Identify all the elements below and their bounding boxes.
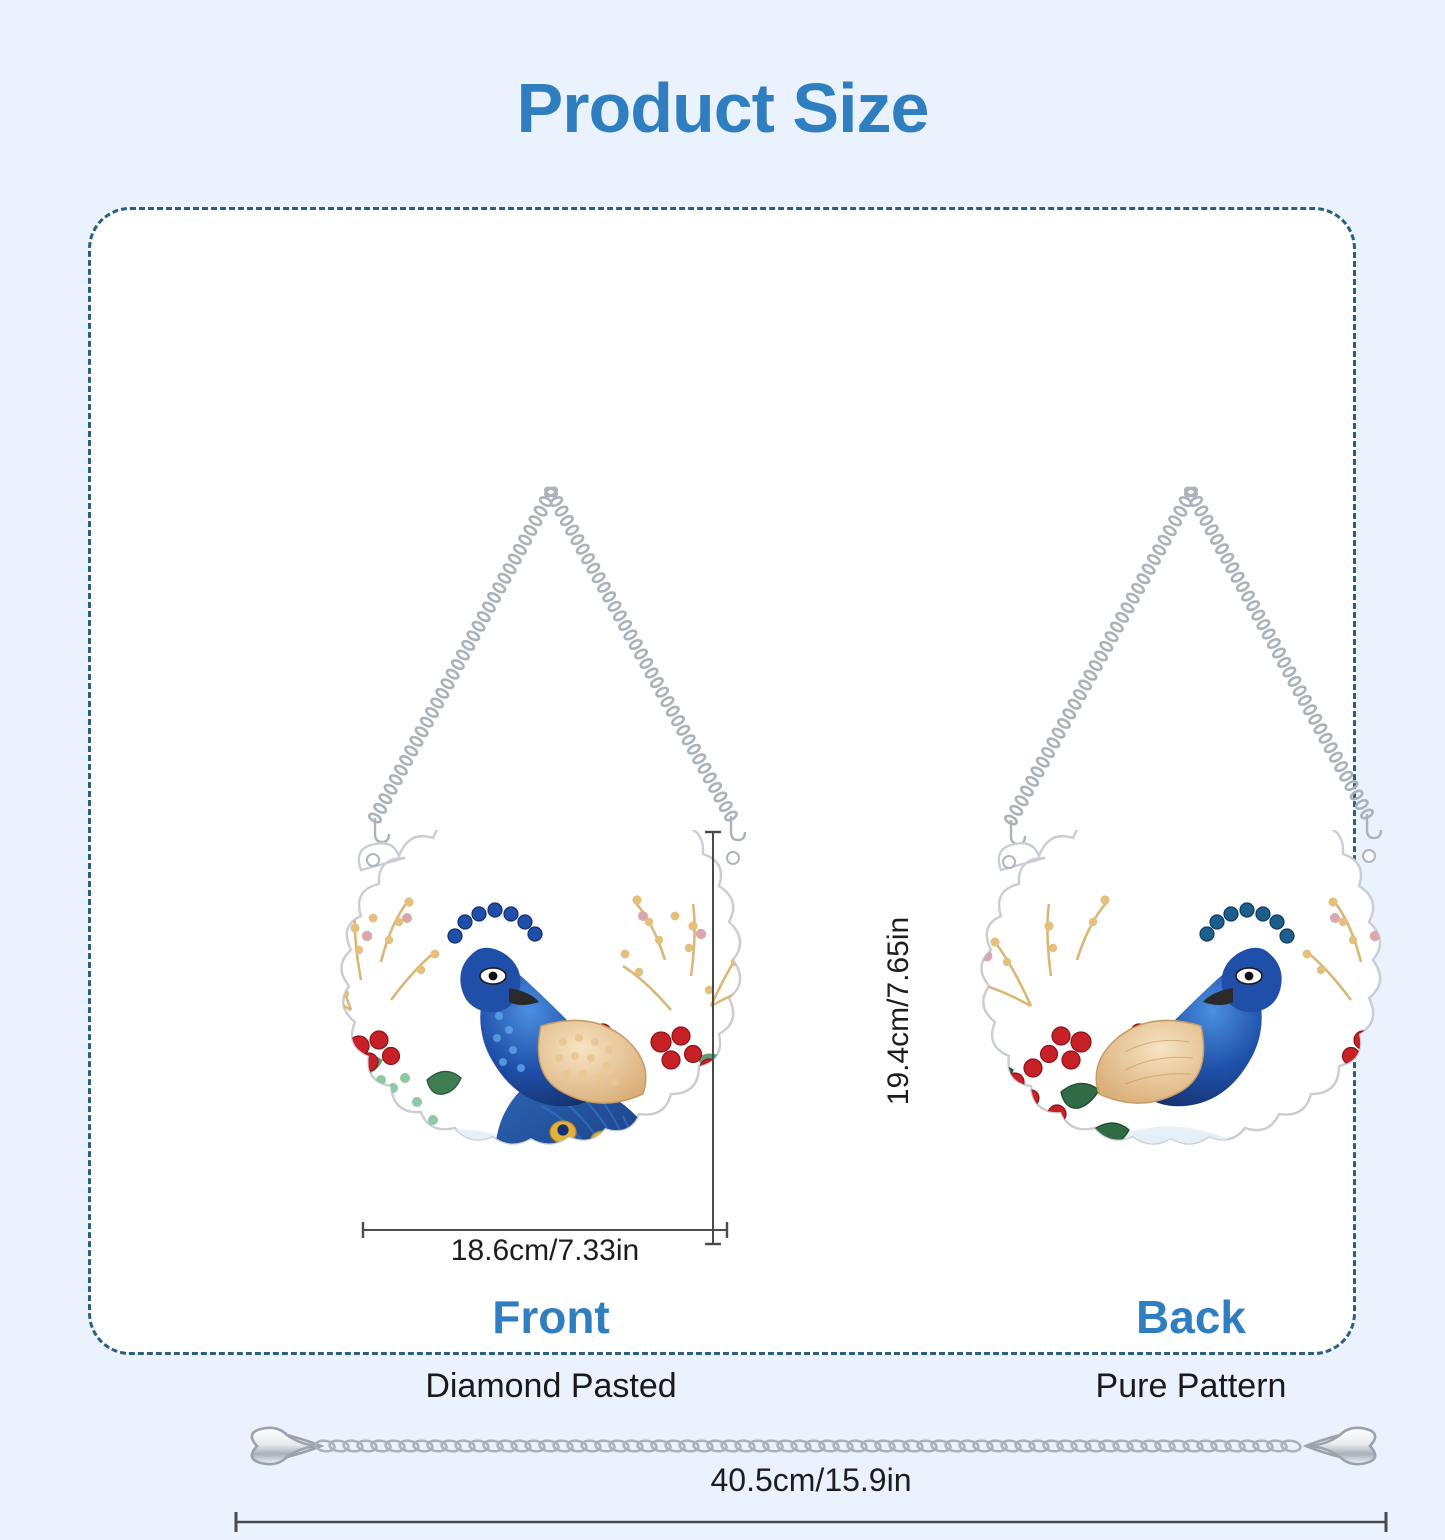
dimension-height-label: 19.4cm/7.65in (882, 781, 916, 1241)
page-title: Product Size (0, 68, 1445, 148)
dimension-chain-length-label: 40.5cm/15.9in (231, 1462, 1391, 1499)
dimension-chain-length: 40.5cm/15.9in (231, 1462, 1391, 1540)
product-back (881, 210, 1445, 1250)
dimension-width: 18.6cm/7.33in (359, 1220, 731, 1272)
hanging-chain-front (241, 488, 861, 838)
caption-back: Back Pure Pattern (881, 1290, 1445, 1407)
hanging-chain-back (881, 488, 1445, 838)
caption-front: Front Diamond Pasted (241, 1290, 861, 1407)
dimension-height: 19.4cm/7.65in (703, 828, 773, 1248)
caption-front-subtitle: Diamond Pasted (241, 1366, 861, 1407)
caption-front-title: Front (241, 1290, 861, 1344)
acrylic-plaque-back (881, 830, 1445, 1250)
content-panel: 19.4cm/7.65in 18.6cm/7.33in Front Diamon… (88, 207, 1356, 1355)
caption-back-subtitle: Pure Pattern (881, 1366, 1445, 1407)
product-size-infographic: Product Size (0, 0, 1445, 1445)
caption-back-title: Back (881, 1290, 1445, 1344)
dimension-width-label: 18.6cm/7.33in (359, 1234, 731, 1268)
